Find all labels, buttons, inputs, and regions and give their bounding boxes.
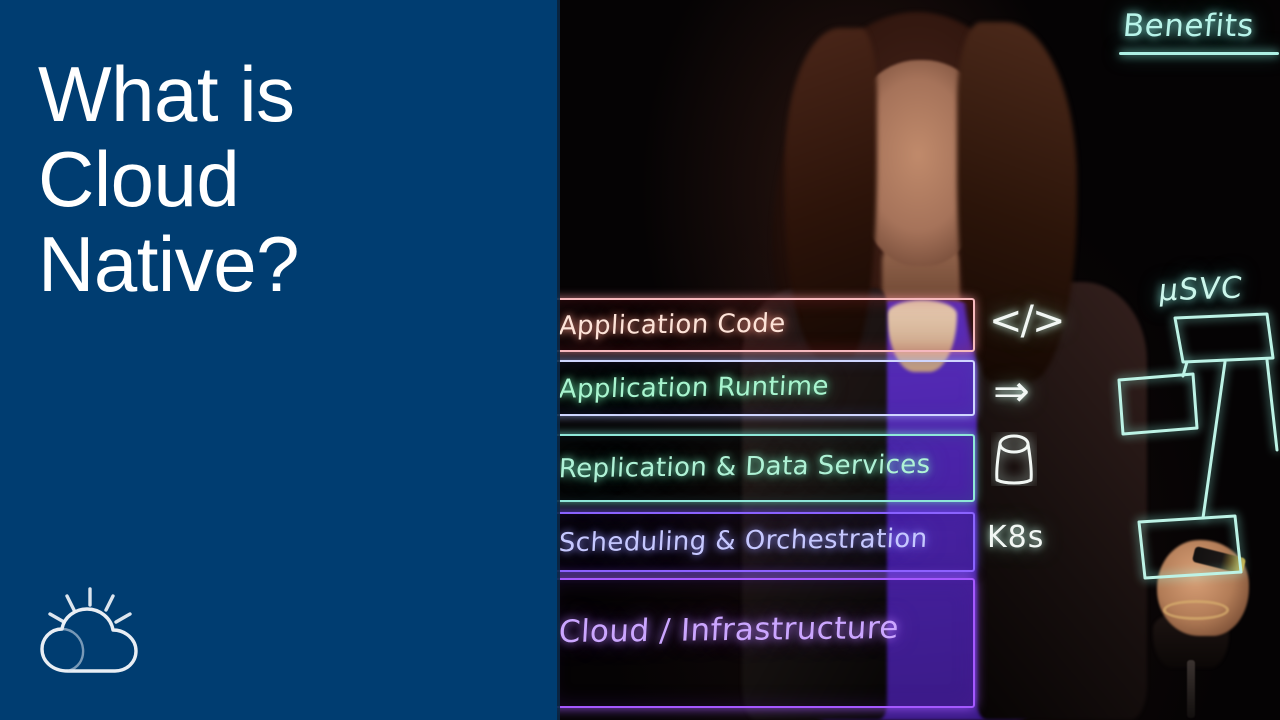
video-frame: What is Cloud Native? (0, 0, 1280, 720)
panel-seam (557, 0, 560, 720)
stack-layer-cloud-infrastructure: Cloud / Infrastructure (557, 578, 975, 708)
double-arrow-icon: ⇒ (993, 366, 1030, 417)
lightboard-scene: Benefits Application Code Application Ru… (557, 0, 1280, 720)
stack-layer-label: Application Runtime (558, 371, 830, 404)
stack-layer-scheduling-orchestration: Scheduling & Orchestration (557, 512, 975, 572)
stack-layer-label: Application Code (558, 309, 786, 342)
benefits-heading: Benefits (1121, 8, 1255, 44)
page-title: What is Cloud Native? (38, 52, 508, 307)
ibm-cloud-logo (30, 583, 150, 679)
stack-layer-application-runtime: Application Runtime (557, 360, 975, 416)
benefits-underline (1119, 52, 1279, 55)
stack-layer-label: Scheduling & Orchestration (558, 524, 928, 558)
title-panel: What is Cloud Native? (0, 0, 557, 720)
microservices-sketch (1117, 300, 1280, 610)
stack-layer-label: Cloud / Infrastructure (558, 610, 900, 650)
code-brackets-icon: </> (989, 298, 1064, 344)
lightboard-drawing: Benefits Application Code Application Ru… (557, 0, 1280, 720)
k8s-label: K8s (987, 520, 1044, 555)
stack-layer-application-code: Application Code (557, 298, 975, 352)
stack-layer-replication-data-services: Replication & Data Services (557, 434, 975, 502)
stack-layer-label: Replication & Data Services (558, 450, 931, 485)
database-icon (991, 432, 1037, 486)
